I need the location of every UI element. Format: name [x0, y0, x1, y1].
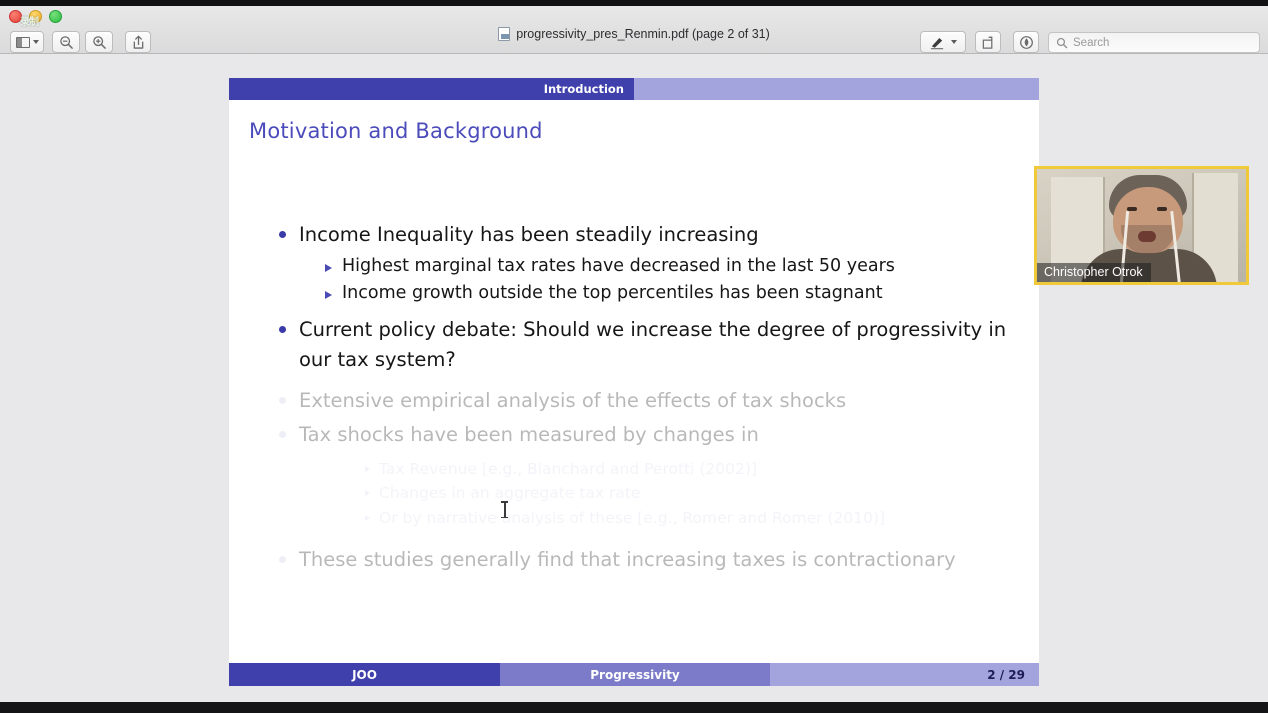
window-title: progressivity_pres_Renmin.pdf (page 2 of…: [516, 27, 770, 41]
bullet-item: Or by narrative analysis of these [e.g.,…: [249, 506, 1019, 531]
window-toolbar: 录制 progressivity_pres_Renmin.pdf (page 2…: [0, 6, 1268, 54]
bullet-item: Income growth outside the top percentile…: [249, 280, 1019, 306]
bullet-text: Changes in an aggregate tax rate: [379, 481, 640, 506]
bullet-triangle-icon: [365, 490, 370, 496]
bullet-item: Tax Revenue [e.g., Blanchard and Perotti…: [249, 457, 1019, 482]
bullet-item: Current policy debate: Should we increas…: [249, 315, 1019, 374]
slide-page: Introduction Motivation and Background I…: [229, 78, 1039, 686]
participant-eye-right: [1157, 207, 1167, 211]
zoom-in-icon: [92, 35, 107, 50]
markup-pen-icon: [929, 35, 946, 50]
share-icon: [132, 35, 145, 50]
chevron-down-icon: [33, 40, 39, 44]
search-input-placeholder: Search: [1073, 37, 1109, 49]
screen-recording-badge: 录制: [20, 13, 38, 28]
text-cursor: [501, 501, 508, 520]
sidebar-toggle-button[interactable]: [10, 31, 44, 53]
bullet-text: Current policy debate: Should we increas…: [299, 315, 1019, 374]
share-button[interactable]: [125, 31, 151, 53]
bullet-triangle-icon: [325, 291, 332, 299]
sidebar-toggle-icon: [16, 37, 30, 48]
search-field[interactable]: Search: [1048, 32, 1260, 53]
redact-button[interactable]: [1013, 31, 1039, 53]
slide-section-label: Introduction: [229, 78, 634, 100]
bullet-dot-icon: [279, 431, 286, 438]
slide-header-bar: Introduction: [229, 78, 1039, 100]
slide-header-filler: [634, 78, 1039, 100]
bullet-dot-icon: [279, 326, 286, 333]
bullet-item: Changes in an aggregate tax rate: [249, 481, 1019, 506]
chevron-down-icon: [951, 40, 957, 44]
bullet-text: Tax shocks have been measured by changes…: [299, 420, 759, 450]
screen-bottom-band: [0, 702, 1268, 713]
bullet-text: These studies generally find that increa…: [299, 545, 956, 575]
zoom-out-button[interactable]: [52, 31, 80, 53]
bullet-triangle-icon: [325, 264, 332, 272]
participant-name-label: Christopher Otrok: [1037, 263, 1151, 282]
footer-page-number: 2 / 29: [770, 663, 1039, 686]
slide-title: Motivation and Background: [249, 119, 543, 143]
bullet-dot-icon: [279, 231, 286, 238]
bullet-item: Tax shocks have been measured by changes…: [249, 420, 1019, 450]
bullet-triangle-icon: [365, 466, 370, 472]
bullet-item: Extensive empirical analysis of the effe…: [249, 386, 1019, 416]
zoom-in-button[interactable]: [85, 31, 113, 53]
bullet-text: Extensive empirical analysis of the effe…: [299, 386, 846, 416]
pdf-document-icon: [498, 27, 510, 41]
bullet-item: Highest marginal tax rates have decrease…: [249, 253, 1019, 279]
bullet-triangle-icon: [365, 515, 370, 521]
rotate-icon: [981, 35, 996, 50]
screen: 录制 progressivity_pres_Renmin.pdf (page 2…: [0, 0, 1268, 713]
bullet-item: Income Inequality has been steadily incr…: [249, 220, 1019, 250]
redact-icon: [1019, 35, 1034, 50]
bullet-text: Tax Revenue [e.g., Blanchard and Perotti…: [379, 457, 757, 482]
markup-button[interactable]: [920, 31, 966, 53]
bullet-dot-icon: [279, 397, 286, 404]
bullet-item: These studies generally find that increa…: [249, 545, 1019, 575]
bullet-text: Or by narrative analysis of these [e.g.,…: [379, 506, 885, 531]
pdf-viewer[interactable]: Introduction Motivation and Background I…: [0, 54, 1268, 702]
bullet-dot-icon: [279, 556, 286, 563]
zoom-out-icon: [59, 35, 74, 50]
zoom-window-button[interactable]: [49, 10, 62, 23]
footer-author: JOO: [229, 663, 500, 686]
bullet-text: Income Inequality has been steadily incr…: [299, 220, 759, 250]
bullet-text: Highest marginal tax rates have decrease…: [342, 253, 895, 279]
footer-short-title: Progressivity: [500, 663, 770, 686]
participant-mouth: [1138, 231, 1156, 242]
slide-footer-bar: JOO Progressivity 2 / 29: [229, 663, 1039, 686]
webcam-overlay[interactable]: Christopher Otrok: [1034, 166, 1249, 285]
search-icon: [1056, 37, 1068, 49]
rotate-button[interactable]: [975, 31, 1001, 53]
bullet-text: Income growth outside the top percentile…: [342, 280, 883, 306]
slide-body: Income Inequality has been steadily incr…: [249, 220, 1019, 578]
